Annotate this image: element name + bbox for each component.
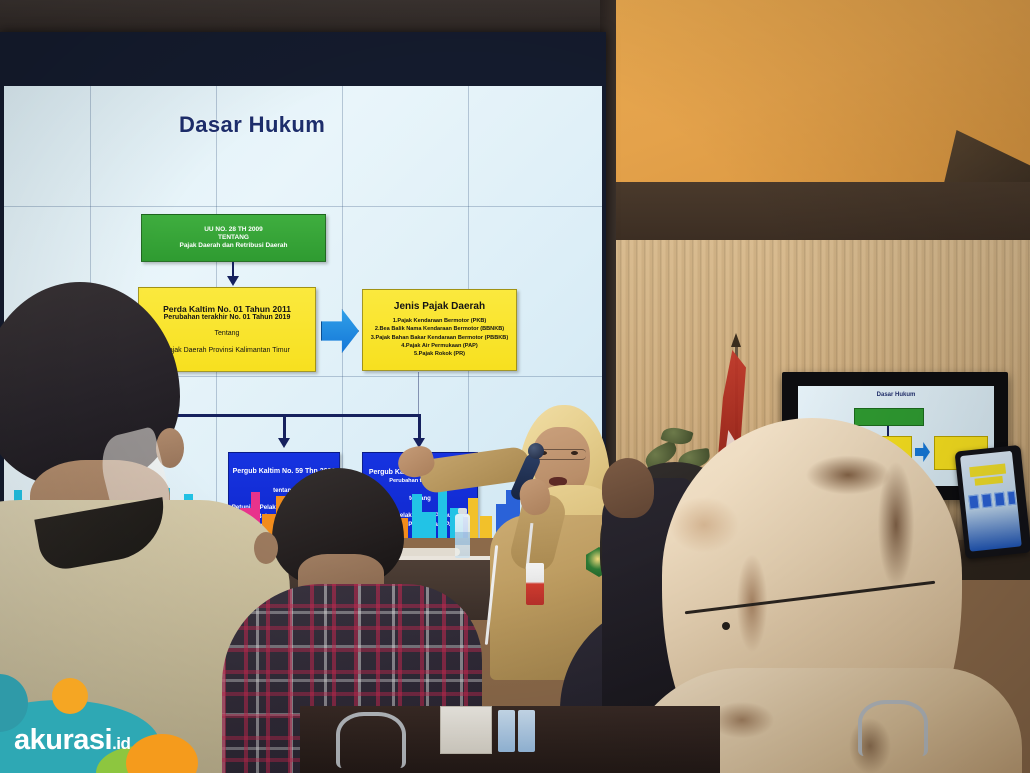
drink-cup (518, 710, 535, 752)
chair-back (336, 712, 406, 768)
jenis-pajak-item: 5.Pajak Rokok (PR) (414, 350, 465, 358)
watermark-text: akurasi.id (14, 724, 130, 757)
watermark-brand: akurasi (14, 724, 112, 756)
jenis-pajak-item: 2.Bea Balik Nama Kendaraan Bermotor (BBN… (375, 325, 504, 333)
connector-from-jenis (418, 372, 419, 416)
mask-strap-knot (722, 622, 730, 630)
microphone-head-icon (528, 443, 544, 459)
green-line-2: TENTANG (218, 234, 249, 242)
drink-cup (498, 710, 515, 752)
smartphone-screen (960, 451, 1022, 552)
arrowhead-to-pergub-59 (278, 438, 290, 448)
chair-back (858, 700, 928, 756)
slide-title: Dasar Hukum (179, 112, 325, 138)
jenis-pajak-item: 4.Pajak Air Permukaan (PAP) (401, 342, 477, 350)
audience-ear (254, 532, 278, 564)
smartphone-recording (955, 445, 1030, 559)
photo-scene: Dasar Hukum UU NO. 28 TH 2009 TENTANG Pa… (0, 0, 1030, 773)
watermark-logo: akurasi.id (0, 690, 230, 773)
jenis-pajak-item: 3.Pajak Bahan Bakar Kendaraan Bermotor (… (371, 334, 508, 342)
right-arrow-icon (321, 309, 359, 353)
white-box-on-table (440, 706, 492, 754)
watermark-suffix: .id (112, 734, 130, 753)
jenis-pajak-item: 1.Pajak Kendaraan Bermotor (PKB) (393, 317, 487, 325)
audience-neighbor-head (602, 458, 654, 518)
slide-box-uu-28-2009: UU NO. 28 TH 2009 TENTANG Pajak Daerah d… (141, 214, 326, 262)
wall-dark-band (612, 182, 1030, 244)
watermark-blob-orange (52, 678, 88, 714)
green-line-3: Pajak Daerah dan Retribusi Daerah (179, 242, 287, 250)
green-line-1: UU NO. 28 TH 2009 (204, 226, 263, 234)
secondary-slide-title: Dasar Hukum (798, 392, 994, 398)
jenis-pajak-title: Jenis Pajak Daerah (394, 301, 485, 314)
id-badge (526, 563, 544, 605)
slide-box-jenis-pajak-daerah: Jenis Pajak Daerah 1.Pajak Kendaraan Ber… (362, 289, 517, 371)
